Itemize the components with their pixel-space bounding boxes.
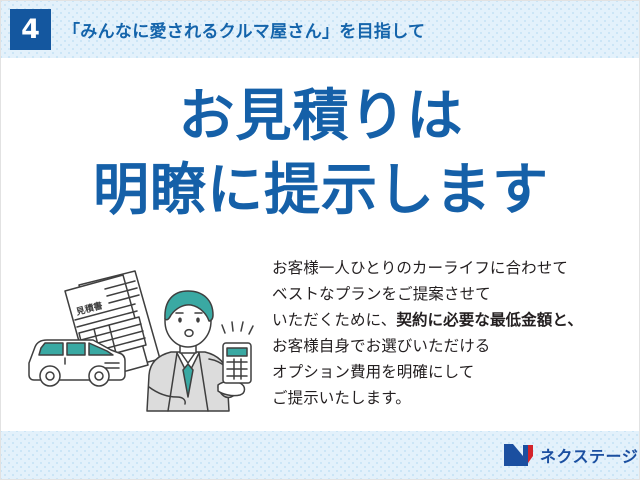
body-copy-line-3-regular: いただくために、 bbox=[272, 311, 396, 329]
body-copy-line-2: ベストなプランをご提案させて bbox=[272, 281, 634, 307]
body-copy: お客様一人ひとりのカーライフに合わせて ベストなプランをご提案させて いただくた… bbox=[272, 255, 634, 411]
salesperson-illustration bbox=[147, 291, 253, 411]
headline-line-1: お見積りは bbox=[1, 87, 640, 147]
body-copy-line-6: ご提示いたします。 bbox=[272, 385, 634, 411]
nexstage-logo: ネクステージ bbox=[504, 443, 638, 467]
body-copy-line-3-emphasis: 契約に必要な最低金額と、 bbox=[396, 311, 583, 329]
calculator bbox=[223, 343, 251, 383]
body-copy-line-5: オプション費用を明確にして bbox=[272, 359, 634, 385]
body-copy-line-4: お客様自身でお選びいただける bbox=[272, 333, 634, 359]
header-title: 「みんなに愛されるクルマ屋さん」を目指して bbox=[63, 17, 425, 42]
body-copy-line-1: お客様一人ひとりのカーライフに合わせて bbox=[272, 255, 634, 281]
nexstage-logo-mark bbox=[504, 444, 534, 467]
headline-line-2: 明瞭に提示します bbox=[1, 161, 640, 221]
nexstage-logo-text: ネクステージ bbox=[540, 443, 638, 467]
salesperson-quote-illustration: 見積書 bbox=[19, 263, 269, 413]
step-number-badge: 4 bbox=[10, 9, 51, 50]
sparkle-icon bbox=[222, 322, 253, 334]
body-copy-line-3: いただくために、契約に必要な最低金額と、 bbox=[272, 307, 634, 333]
promo-slide: 4 「みんなに愛されるクルマ屋さん」を目指して お見積りは 明瞭に提示します お… bbox=[0, 0, 640, 480]
